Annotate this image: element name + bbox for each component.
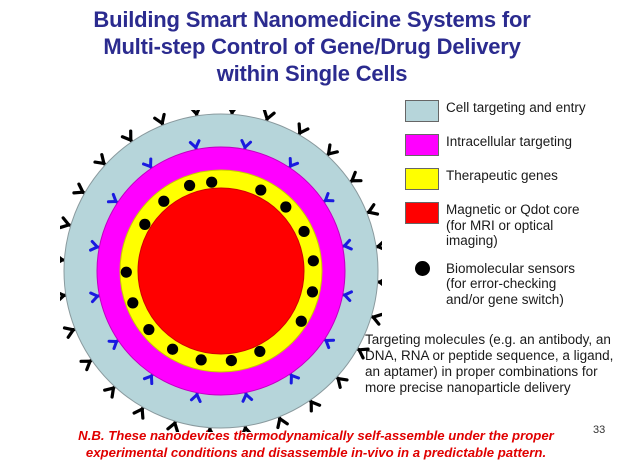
slide-canvas: Building Smart Nanomedicine Systems for … <box>0 0 624 467</box>
legend-swatch-cell <box>398 166 446 190</box>
sensor-dot-icon <box>167 344 178 355</box>
legend-label-sub1: (for MRI or optical <box>446 218 580 234</box>
title-line-3: within Single Cells <box>0 60 624 87</box>
legend-label-block: Therapeutic genes <box>446 166 558 184</box>
sensor-dot-icon <box>298 226 309 237</box>
legend-label-block: Intracellular targeting <box>446 132 572 150</box>
page-title: Building Smart Nanomedicine Systems for … <box>0 6 624 87</box>
sensor-dot-icon <box>226 355 237 366</box>
sensor-dot-icon <box>206 177 217 188</box>
legend-item-therapeutic-genes: Therapeutic genes <box>398 166 624 190</box>
legend-label-text: Magnetic or Qdot core <box>446 202 580 217</box>
legend-item-cell-targeting: Cell targeting and entry <box>398 98 624 122</box>
sensor-dot-icon <box>255 184 266 195</box>
legend-label-text: Biomolecular sensors <box>446 261 575 276</box>
magnetic-qdot-core-swatch <box>405 202 439 224</box>
sensor-dot-icon <box>308 255 319 266</box>
sensor-dot-icon <box>307 286 318 297</box>
sensor-dot-icon <box>127 297 138 308</box>
legend-item-intracellular-targeting: Intracellular targeting <box>398 132 624 156</box>
sensor-dot-icon <box>184 180 195 191</box>
legend-label-block: Magnetic or Qdot core (for MRI or optica… <box>446 200 580 249</box>
legend-item-biomolecular-sensors: Biomolecular sensors (for error-checking… <box>398 259 624 308</box>
legend-label-sub1: (for error-checking <box>446 276 575 292</box>
sensor-dot-icon <box>121 267 132 278</box>
sensor-dot-icon <box>296 316 307 327</box>
legend-label-sub2: and/or gene switch) <box>446 292 575 308</box>
title-line-1: Building Smart Nanomedicine Systems for <box>0 6 624 33</box>
targeting-molecules-note: Targeting molecules (e.g. an antibody, a… <box>365 332 617 396</box>
nanoparticle-diagram <box>60 110 382 432</box>
legend-label-block: Cell targeting and entry <box>446 98 586 116</box>
sensor-dot-icon <box>280 201 291 212</box>
sensor-dot-icon <box>158 196 169 207</box>
legend-swatch-cell <box>398 98 446 122</box>
legend-label-block: Biomolecular sensors (for error-checking… <box>446 259 575 308</box>
legend-item-magnetic-qdot-core: Magnetic or Qdot core (for MRI or optica… <box>398 200 624 249</box>
title-line-2: Multi-step Control of Gene/Drug Delivery <box>0 33 624 60</box>
biomolecular-sensor-dot-swatch <box>415 261 430 276</box>
legend-label-text: Cell targeting and entry <box>446 100 586 115</box>
sensor-dot-icon <box>143 324 154 335</box>
legend-swatch-cell <box>398 132 446 156</box>
legend-swatch-cell <box>398 200 446 224</box>
sensor-dot-icon <box>254 346 265 357</box>
therapeutic-genes-swatch <box>405 168 439 190</box>
intracellular-targeting-swatch <box>405 134 439 156</box>
legend-label-text: Intracellular targeting <box>446 134 572 149</box>
legend: Cell targeting and entry Intracellular t… <box>398 98 624 317</box>
slide-number: 33 <box>593 424 605 436</box>
legend-label-text: Therapeutic genes <box>446 168 558 183</box>
legend-label-sub2: imaging) <box>446 233 580 249</box>
nb-footer-note: N.B. These nanodevices thermodynamically… <box>18 428 614 461</box>
cell-targeting-swatch <box>405 100 439 122</box>
legend-swatch-cell <box>398 259 446 276</box>
sensor-dot-icon <box>139 219 150 230</box>
red-core-circle <box>138 188 304 354</box>
nb-line-1: N.B. These nanodevices thermodynamically… <box>18 428 614 445</box>
sensor-dot-icon <box>196 354 207 365</box>
nb-line-2: experimental conditions and disassemble … <box>18 445 614 462</box>
